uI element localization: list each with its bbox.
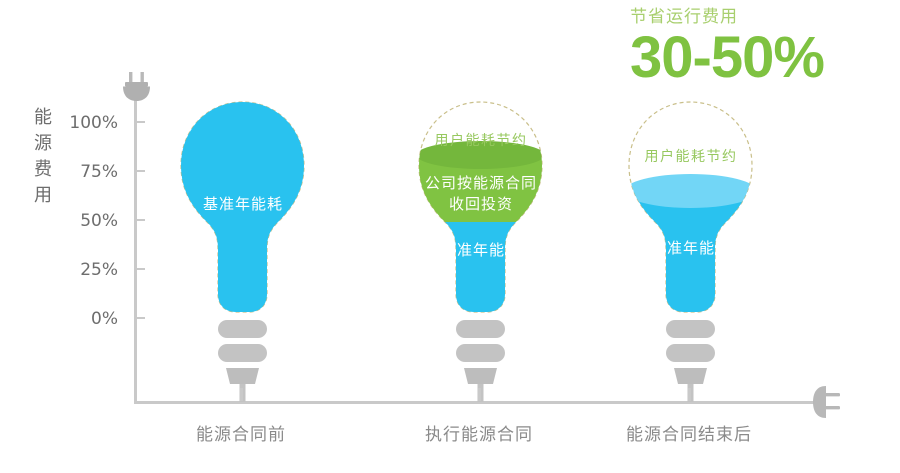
bulb-after-contract: 用户能耗节约 基准年能耗 xyxy=(608,98,773,413)
y-axis-title-char: 能 xyxy=(30,104,56,130)
x-tick-3 xyxy=(688,388,691,401)
plug-icon xyxy=(119,72,154,102)
y-axis-title-char: 费 xyxy=(30,156,56,182)
y-tick-label: 25% xyxy=(80,260,118,280)
y-tick-label: 50% xyxy=(80,211,118,231)
x-axis-label-before-contract: 能源合同前 xyxy=(141,420,341,445)
y-tick-mark xyxy=(134,268,145,270)
y-axis-line xyxy=(134,86,137,404)
y-tick-mark xyxy=(134,170,145,172)
y-tick-label: 100% xyxy=(69,113,118,133)
y-tick-mark xyxy=(134,121,145,123)
plug-socket-icon xyxy=(812,384,844,420)
y-axis-title: 能 源 费 用 xyxy=(30,104,56,208)
x-axis-label-after-contract: 能源合同结束后 xyxy=(589,420,789,445)
x-axis-label-during-contract: 执行能源合同 xyxy=(379,420,579,445)
y-axis-title-char: 源 xyxy=(30,130,56,156)
y-tick-label: 0% xyxy=(91,309,118,329)
bulb3-saving-label: 用户能耗节约 xyxy=(591,146,791,166)
y-tick-mark xyxy=(134,219,145,221)
bulb2-saving-label: 用户能耗节约 xyxy=(381,130,581,150)
headline-value: 30-50% xyxy=(630,28,890,88)
y-tick-label: 75% xyxy=(80,162,118,182)
bulb-before-contract: 基准年能耗 xyxy=(160,98,325,413)
y-axis-title-char: 用 xyxy=(30,182,56,208)
bulb-during-contract: 用户能耗节约 公司按能源合同 收回投资 基准年能耗 xyxy=(398,98,563,413)
headline-block: 节省运行费用 30-50% xyxy=(630,6,890,88)
y-tick-mark xyxy=(134,317,145,319)
x-tick-1 xyxy=(240,388,243,401)
x-tick-2 xyxy=(478,388,481,401)
infographic-canvas: 节省运行费用 30-50% 能 源 费 用 100% 75% 50% xyxy=(0,0,900,473)
